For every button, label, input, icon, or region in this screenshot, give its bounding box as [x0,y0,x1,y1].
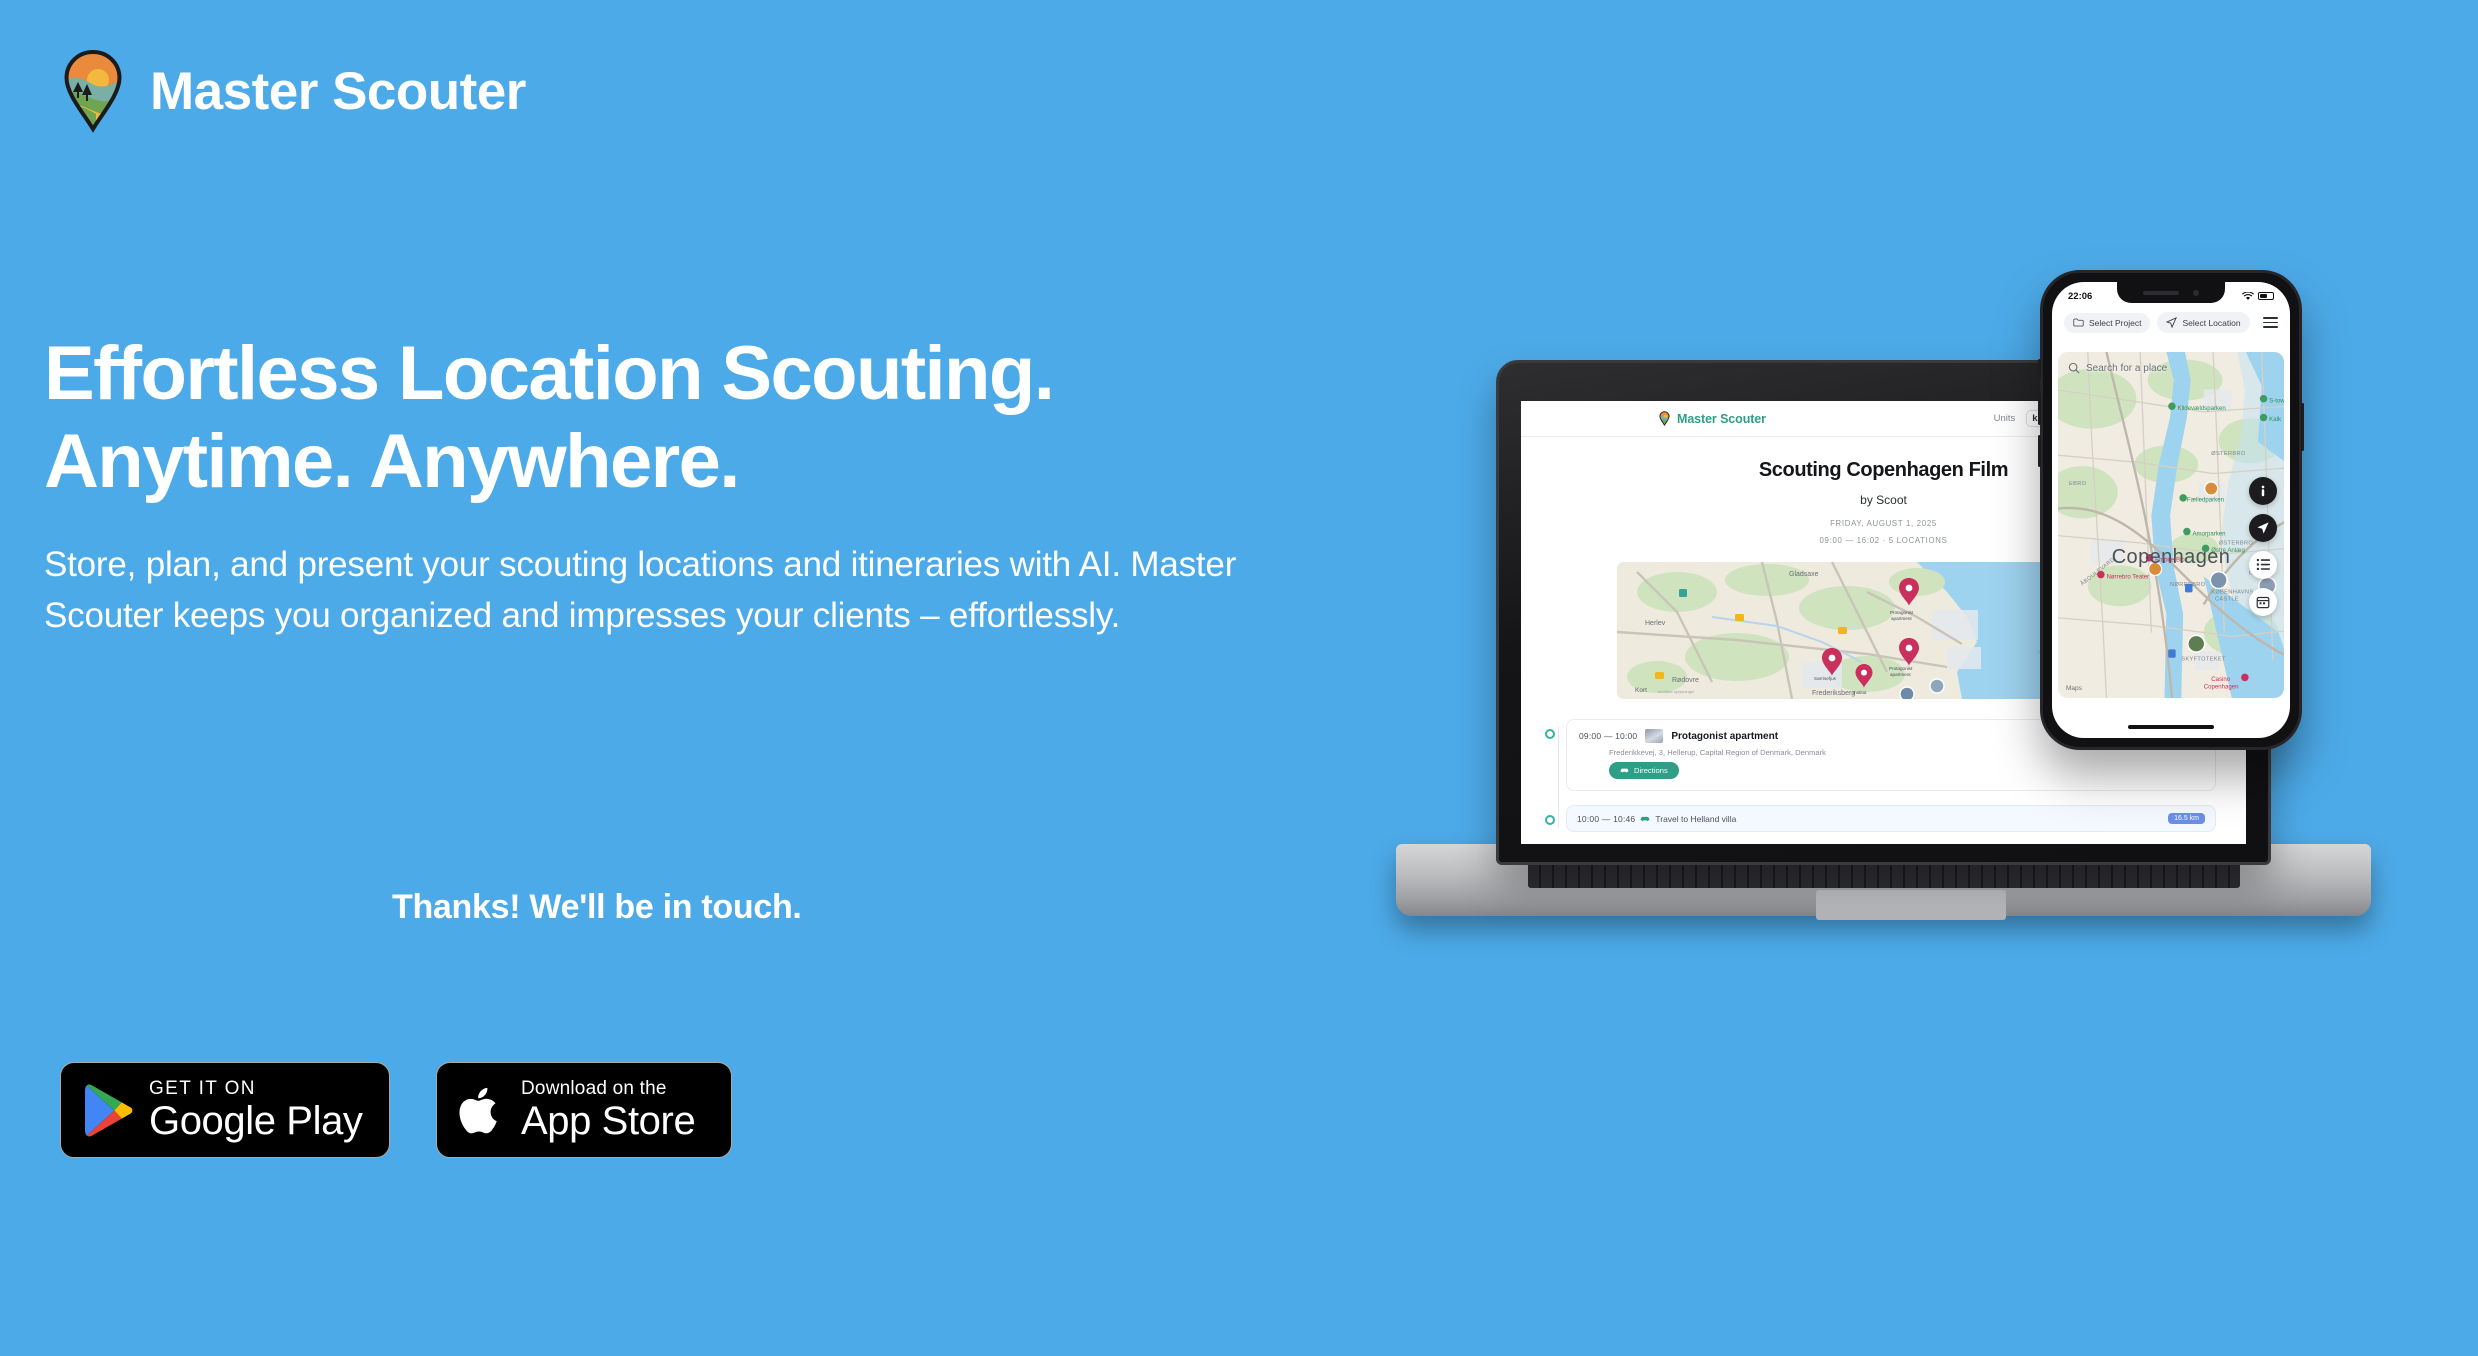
phone-map[interactable]: ØSTERBRO NØRREBRO EBRO ØSTERBRO ÅBOULEVA… [2058,352,2284,698]
map-pin-landscape-logo [62,48,124,134]
search-icon [2068,362,2080,374]
svg-text:KØBENHAVNS: KØBENHAVNS [2211,589,2253,595]
hero-section: Effortless Location Scouting. Anytime. A… [44,330,1334,641]
info-glyph [2256,484,2270,498]
svg-text:Juridiske oplysninger: Juridiske oplysninger [1657,689,1695,694]
svg-text:Institut: Institut [1853,690,1867,695]
form-success-message: Thanks! We'll be in touch. [392,888,802,927]
svg-text:Kildevældsparken: Kildevældsparken [2178,406,2226,412]
landing-page: Master Scouter Effortless Location Scout… [0,0,2478,1356]
app-store-button[interactable]: Download on the App Store [436,1062,732,1158]
svg-text:EBRO: EBRO [2069,481,2087,487]
svg-text:Kalk: Kalk [2269,417,2282,423]
phone-volume-up-button [2038,393,2041,425]
folder-icon [2073,318,2084,327]
app-store-big-text: App Store [521,1100,695,1142]
svg-text:apartment: apartment [1890,672,1911,677]
calendar-glyph [2256,595,2270,609]
directions-label: Directions [1634,766,1668,775]
location-name: Protagonist apartment [1671,731,1778,742]
svg-text:Frederiksberg: Frederiksberg [1812,690,1855,697]
app-brand[interactable]: Master Scouter [1659,411,1766,426]
phone-power-button [2301,403,2304,451]
timeline-item[interactable]: 10:00 — 10:46 Travel to Helland villa 16… [1545,805,2216,832]
hamburger-menu-icon[interactable] [2263,317,2278,328]
store-badges: GET IT ON Google Play Download on the Ap… [60,1062,732,1158]
phone-toolbar: Select Project Select Location [2052,310,2290,341]
travel-row: 10:00 — 10:46 Travel to Helland villa 16… [1577,813,2205,824]
svg-text:Gladsaxe: Gladsaxe [1789,571,1819,578]
brand-name: Master Scouter [150,65,526,118]
travel-card[interactable]: 10:00 — 10:46 Travel to Helland villa 16… [1566,805,2216,832]
phone-screen: 22:06 Selec [2052,282,2290,738]
calendar-icon[interactable] [2249,588,2277,616]
home-indicator [2128,725,2214,729]
phone-mute-switch [2038,359,2041,379]
directions-button[interactable]: Directions [1609,762,1679,779]
app-store-label: Download on the App Store [521,1078,695,1142]
svg-text:apartment: apartment [1891,616,1912,621]
list-glyph [2256,558,2271,571]
svg-text:Rødovre: Rødovre [1672,677,1699,684]
search-input[interactable]: Search for a place [2068,362,2167,374]
travel-time: 10:00 — 10:46 [1577,814,1635,824]
status-time: 22:06 [2068,291,2092,302]
wifi-icon [2242,292,2254,301]
svg-text:SKYFTOTEKET: SKYFTOTEKET [2181,657,2226,663]
app-brand-name: Master Scouter [1677,412,1766,426]
map-credit: Kort [1635,687,1647,694]
navigate-icon[interactable] [2249,514,2277,542]
google-play-small-text: GET IT ON [149,1078,363,1100]
page-title: Effortless Location Scouting. Anytime. A… [44,330,1334,506]
svg-text:Protagonist: Protagonist [1889,666,1913,671]
hero-subcopy: Store, plan, and present your scouting l… [44,540,1264,641]
info-icon[interactable] [2249,477,2277,505]
phone-status-bar: 22:06 [2052,282,2290,310]
google-play-big-text: Google Play [149,1100,363,1142]
location-thumbnail [1645,729,1663,743]
svg-text:ØSTERBRO: ØSTERBRO [2211,451,2246,457]
car-icon [1640,815,1650,823]
units-label: Units [1994,413,2016,424]
svg-text:Nørrebro Teater: Nørrebro Teater [2106,574,2149,580]
location-time: 09:00 — 10:00 [1579,731,1637,741]
travel-name: Travel to Helland villa [1655,814,1736,824]
select-location-label: Select Location [2182,318,2240,328]
svg-text:Casino: Casino [2211,677,2230,683]
navigate-icon [2166,317,2177,328]
svg-text:Copenhagen: Copenhagen [2204,685,2239,691]
phone-mockup: 22:06 Selec [2040,270,2302,750]
navigate-glyph [2256,521,2270,535]
timeline-dot [1545,729,1555,739]
car-icon [1620,767,1629,774]
battery-icon [2258,292,2274,300]
timeline-dot [1545,815,1555,825]
svg-text:Amorparken: Amorparken [2193,531,2226,537]
google-play-label: GET IT ON Google Play [149,1078,363,1142]
search-placeholder: Search for a place [2086,363,2167,374]
svg-text:S-tow: S-tow [2269,398,2284,404]
phone-volume-down-button [2038,435,2041,467]
status-icons [2242,292,2274,301]
svg-text:CASTLE: CASTLE [2215,597,2239,603]
svg-text:Herlev: Herlev [1645,620,1666,627]
select-location-button[interactable]: Select Location [2157,312,2249,333]
headline-line-2: Anytime. Anywhere. [44,419,739,504]
select-project-button[interactable]: Select Project [2064,313,2150,333]
apple-icon [459,1083,505,1138]
laptop-trackpad [1816,890,2006,920]
headline-line-1: Effortless Location Scouting. [44,331,1053,416]
travel-distance: 16.5 km [2168,813,2205,824]
brand-header[interactable]: Master Scouter [62,48,526,134]
svg-text:Protagonist: Protagonist [1890,610,1914,615]
app-logo-icon [1659,411,1670,426]
maps-credit: Maps [2066,685,2082,692]
map-action-buttons [2249,477,2277,616]
select-project-label: Select Project [2089,318,2141,328]
svg-text:Fælledparken: Fælledparken [2187,498,2224,504]
google-play-button[interactable]: GET IT ON Google Play [60,1062,390,1158]
google-play-icon [83,1083,133,1138]
svg-text:Sørrisefjus: Sørrisefjus [1814,676,1837,681]
device-mockup: Master Scouter Units km Time 24h [1380,250,2478,1200]
list-icon[interactable] [2249,551,2277,579]
app-store-small-text: Download on the [521,1078,695,1100]
